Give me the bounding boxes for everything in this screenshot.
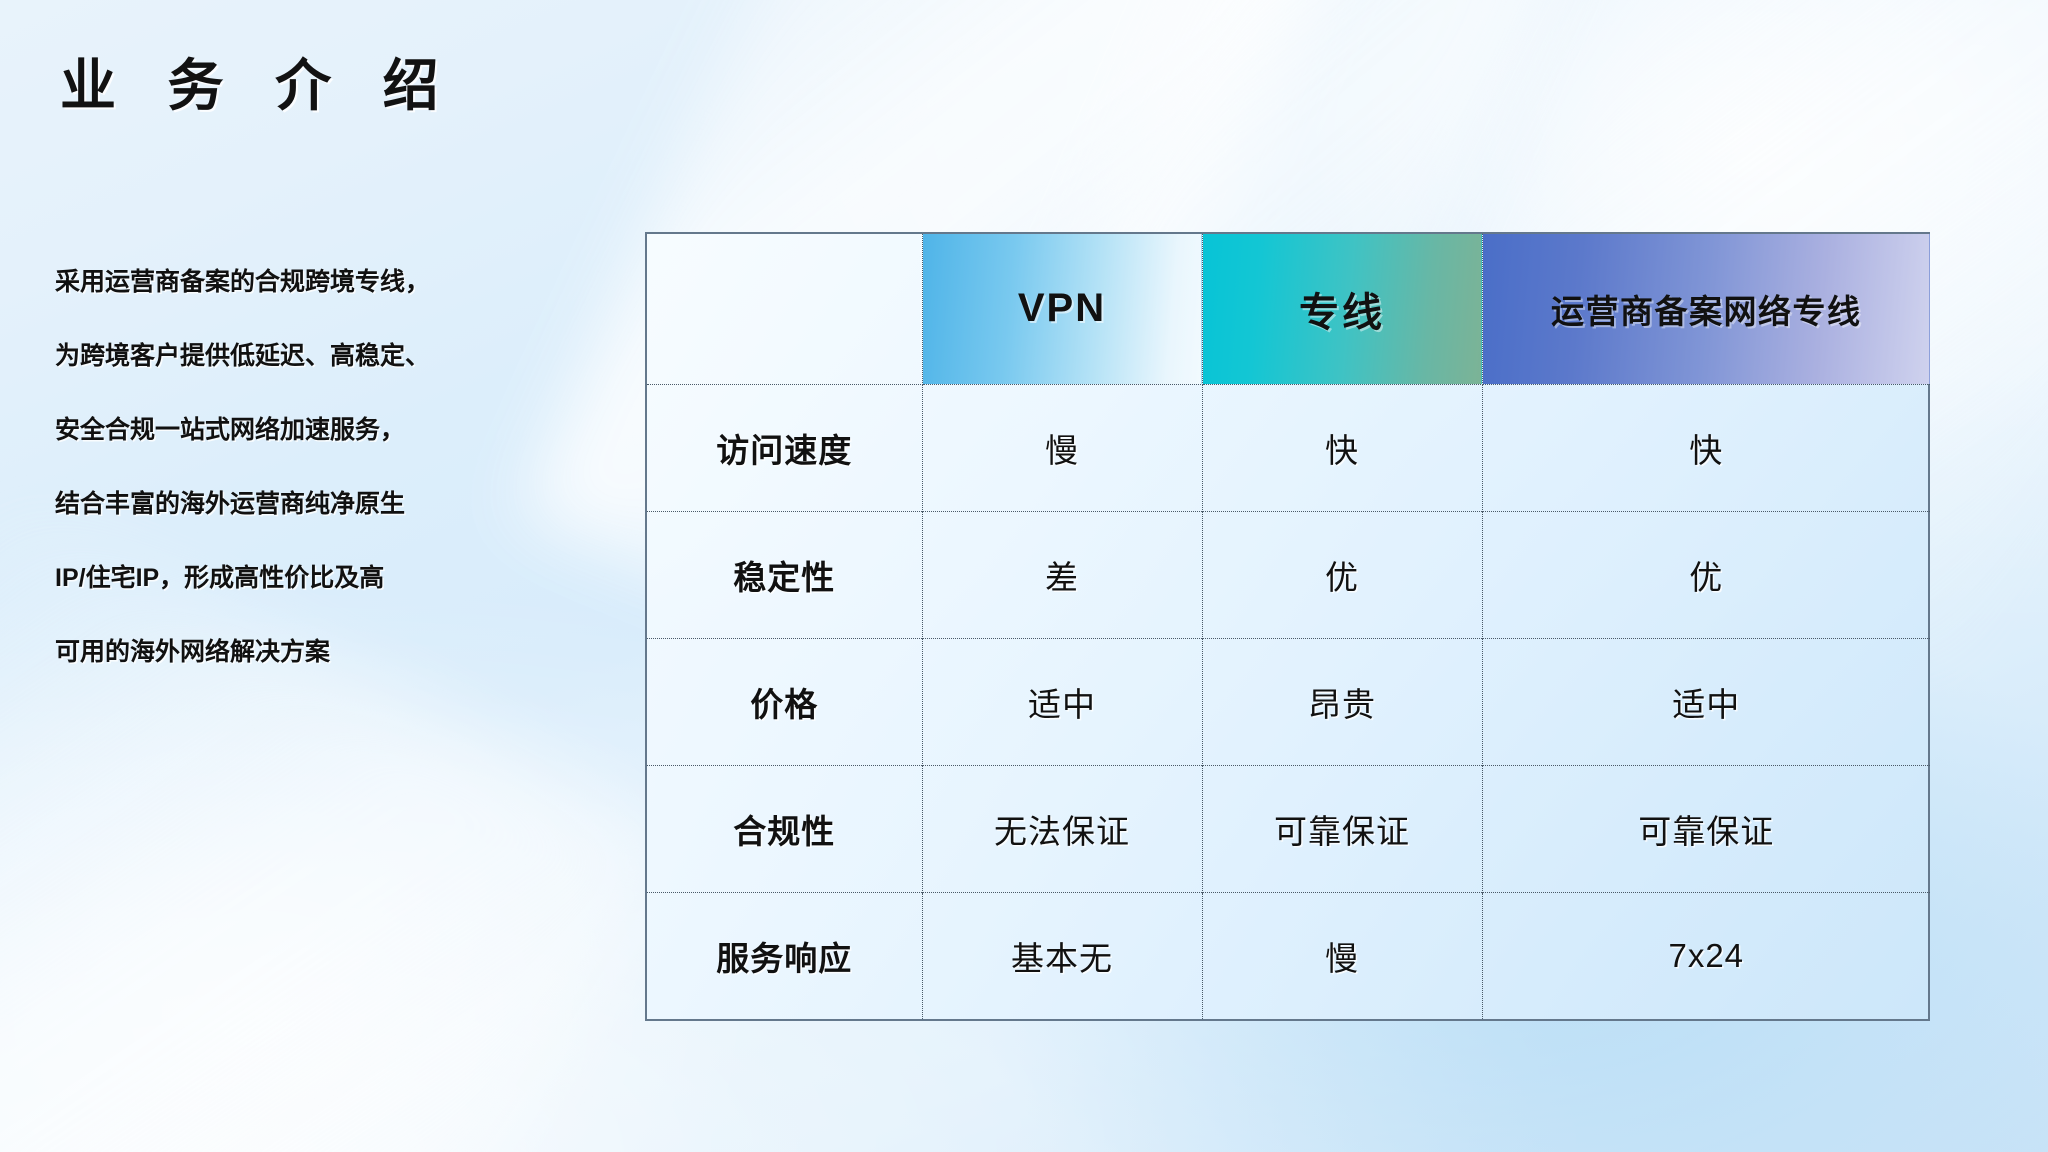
row-label-stability: 稳定性 xyxy=(647,511,922,638)
cell-carrier-line: 适中 xyxy=(1482,638,1930,765)
cell-vpn: 基本无 xyxy=(922,892,1202,1019)
cell-dedicated-line: 优 xyxy=(1202,511,1482,638)
intro-line: IP/住宅IP，形成高性价比及高 xyxy=(55,541,475,615)
row-label-access-speed: 访问速度 xyxy=(647,384,922,511)
intro-line: 安全合规一站式网络加速服务， xyxy=(55,393,475,467)
intro-paragraph: 采用运营商备案的合规跨境专线， 为跨境客户提供低延迟、高稳定、 安全合规一站式网… xyxy=(55,245,475,689)
table-row: 稳定性 差 优 优 xyxy=(647,511,1930,638)
cell-vpn: 无法保证 xyxy=(922,765,1202,892)
cell-dedicated-line: 昂贵 xyxy=(1202,638,1482,765)
intro-line: 为跨境客户提供低延迟、高稳定、 xyxy=(55,319,475,393)
row-label-service-response: 服务响应 xyxy=(647,892,922,1019)
intro-line: 结合丰富的海外运营商纯净原生 xyxy=(55,467,475,541)
table-row: 价格 适中 昂贵 适中 xyxy=(647,638,1930,765)
cell-carrier-line: 快 xyxy=(1482,384,1930,511)
cell-dedicated-line: 可靠保证 xyxy=(1202,765,1482,892)
table-header-vpn: VPN xyxy=(922,234,1202,384)
table-row: 合规性 无法保证 可靠保证 可靠保证 xyxy=(647,765,1930,892)
cell-vpn: 适中 xyxy=(922,638,1202,765)
table-row: 服务响应 基本无 慢 7x24 xyxy=(647,892,1930,1019)
table-header-blank xyxy=(647,234,922,384)
cell-vpn: 差 xyxy=(922,511,1202,638)
intro-line: 采用运营商备案的合规跨境专线， xyxy=(55,245,475,319)
cell-carrier-line: 优 xyxy=(1482,511,1930,638)
slide-canvas: 业 务 介 绍 采用运营商备案的合规跨境专线， 为跨境客户提供低延迟、高稳定、 … xyxy=(0,0,2048,1152)
cell-carrier-line: 可靠保证 xyxy=(1482,765,1930,892)
table-row: 访问速度 慢 快 快 xyxy=(647,384,1930,511)
table-header-row: VPN 专线 运营商备案网络专线 xyxy=(647,234,1930,384)
row-label-price: 价格 xyxy=(647,638,922,765)
cell-carrier-line: 7x24 xyxy=(1482,892,1930,1019)
comparison-table: VPN 专线 运营商备案网络专线 访问速度 慢 快 快 稳定性 差 优 优 xyxy=(645,232,1930,1021)
cell-vpn: 慢 xyxy=(922,384,1202,511)
cell-dedicated-line: 慢 xyxy=(1202,892,1482,1019)
cell-dedicated-line: 快 xyxy=(1202,384,1482,511)
table-header-carrier-filed-line: 运营商备案网络专线 xyxy=(1482,234,1930,384)
row-label-compliance: 合规性 xyxy=(647,765,922,892)
page-title: 业 务 介 绍 xyxy=(60,52,457,119)
intro-line: 可用的海外网络解决方案 xyxy=(55,615,475,689)
table-header-dedicated-line: 专线 xyxy=(1202,234,1482,384)
